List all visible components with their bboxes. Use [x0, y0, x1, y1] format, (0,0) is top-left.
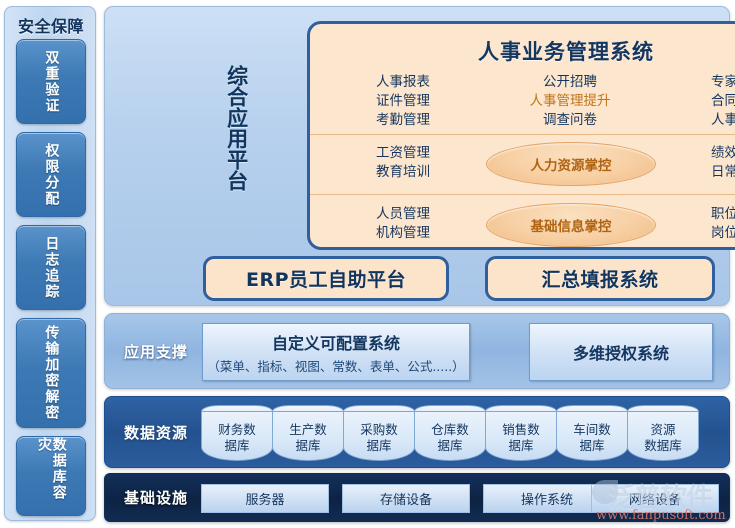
hr-ellipse-basic-info-control[interactable]: 基础信息掌控 — [486, 203, 656, 247]
hr-item[interactable]: 公开招聘 — [486, 73, 654, 92]
database-label-line1: 仓库数 — [431, 422, 469, 437]
application-support-label: 应用支撑 — [115, 314, 197, 388]
hr-item[interactable]: 岗位管理 — [662, 224, 735, 243]
database-label: 采购数 据库 — [360, 422, 398, 453]
infrastructure-band: 基础设施 服务器 存储设备 操作系统 网络设备 — [104, 473, 730, 522]
hr-item[interactable]: 考勤管理 — [328, 111, 478, 130]
hr-row2-right-column: 绩效考评 日常业务 — [662, 144, 735, 182]
security-item-label: 权限分配 — [44, 143, 59, 207]
database-label-line1: 采购数 — [360, 422, 398, 437]
hr-item[interactable]: 人员管理 — [328, 205, 478, 224]
database-label: 销售数 据库 — [502, 422, 540, 453]
database-cylinder-body-icon: 销售数 据库 — [485, 411, 557, 461]
database-workshop[interactable]: 车间数 据库 — [556, 405, 628, 461]
database-label-line2: 据库 — [437, 438, 462, 453]
hr-item[interactable]: 人事报表 — [328, 73, 478, 92]
hr-row3-left-column: 人员管理 机构管理 — [328, 205, 478, 243]
database-label: 车间数 据库 — [573, 422, 611, 453]
security-item-label: 传输加密解密 — [44, 325, 59, 421]
database-warehouse[interactable]: 仓库数 据库 — [414, 405, 486, 461]
application-platform-panel: 综合应用平台 人事业务管理系统 人事报表 证件管理 考勤管理 公开招聘 人事管理… — [104, 6, 730, 306]
hr-ellipse-label: 基础信息掌控 — [531, 215, 612, 235]
database-label-line2: 据库 — [366, 438, 391, 453]
database-cylinder-body-icon: 资源 数据库 — [627, 411, 699, 461]
multidimensional-authorization-system-title: 多维授权系统 — [573, 340, 669, 364]
database-label-line2: 据库 — [224, 438, 249, 453]
security-panel: 安全保障 双重验证 权限分配 日志追踪 传输加密解密 数据库容灾 — [4, 6, 96, 521]
hr-item[interactable]: 教育培训 — [328, 163, 478, 182]
hr-item[interactable]: 调查问卷 — [486, 111, 654, 130]
security-item-dual-verification[interactable]: 双重验证 — [16, 39, 86, 124]
database-label-line1: 生产数 — [289, 422, 327, 437]
custom-configurable-system-subtitle: （菜单、指标、视图、常数、表单、公式.....） — [207, 356, 464, 375]
database-label: 生产数 据库 — [289, 422, 327, 453]
database-label-line1: 财务数 — [218, 422, 256, 437]
hr-item[interactable]: 人事文库 — [662, 111, 735, 130]
hr-row1-right-column: 专家人才 合同管理 人事文库 — [662, 73, 735, 130]
database-resource[interactable]: 资源 数据库 — [627, 405, 699, 461]
summary-reporting-system-button[interactable]: 汇总填报系统 — [485, 256, 715, 301]
hr-item[interactable]: 合同管理 — [662, 92, 735, 111]
database-cylinder-body-icon: 采购数 据库 — [343, 411, 415, 461]
hr-ellipse-label: 人力资源掌控 — [531, 154, 612, 174]
hr-row2-left-column: 工资管理 教育培训 — [328, 144, 478, 182]
security-item-label: 数据库容灾 — [36, 437, 65, 515]
security-item-label: 双重验证 — [44, 50, 59, 114]
hr-row-2: 工资管理 教育培训 人力资源掌控 绩效考评 日常业务 — [310, 134, 735, 192]
hr-item-highlighted[interactable]: 人事管理提升 — [486, 92, 654, 111]
database-cylinder-body-icon: 车间数 据库 — [556, 411, 628, 461]
database-label-line2: 数据库 — [644, 438, 682, 453]
database-sales[interactable]: 销售数 据库 — [485, 405, 557, 461]
database-cylinder-body-icon: 财务数 据库 — [201, 411, 273, 461]
hr-row-1: 人事报表 证件管理 考勤管理 公开招聘 人事管理提升 调查问卷 专家人才 合同管… — [310, 70, 735, 132]
database-label: 资源 数据库 — [644, 422, 682, 453]
database-label-line2: 据库 — [579, 438, 604, 453]
security-item-permission-allocation[interactable]: 权限分配 — [16, 132, 86, 217]
multidimensional-authorization-system-box[interactable]: 多维授权系统 — [529, 323, 713, 381]
database-label-line2: 据库 — [508, 438, 533, 453]
hr-row3-right-column: 职位管理 岗位管理 — [662, 205, 735, 243]
architecture-diagram: 安全保障 双重验证 权限分配 日志追踪 传输加密解密 数据库容灾 综合应用平台 … — [0, 0, 735, 528]
infrastructure-item-server[interactable]: 服务器 — [201, 484, 329, 513]
data-resources-band: 数据资源 财务数 据库 生产数 据库 采购 — [104, 396, 730, 468]
security-panel-title: 安全保障 — [5, 13, 97, 37]
database-production[interactable]: 生产数 据库 — [272, 405, 344, 461]
hr-row1-left-column: 人事报表 证件管理 考勤管理 — [328, 73, 478, 130]
security-item-transmission-encryption[interactable]: 传输加密解密 — [16, 318, 86, 428]
database-cylinder-body-icon: 仓库数 据库 — [414, 411, 486, 461]
infrastructure-item-network-device[interactable]: 网络设备 — [591, 484, 719, 513]
hr-row-3: 人员管理 机构管理 基础信息掌控 职位管理 岗位管理 — [310, 194, 735, 250]
database-cylinder-body-icon: 生产数 据库 — [272, 411, 344, 461]
hr-item[interactable]: 工资管理 — [328, 144, 478, 163]
security-item-label: 日志追踪 — [44, 236, 59, 300]
platform-label-text: 综合应用平台 — [226, 65, 245, 191]
hr-item[interactable]: 绩效考评 — [662, 144, 735, 163]
database-label-line2: 据库 — [295, 438, 320, 453]
custom-configurable-system-box[interactable]: 自定义可配置系统 （菜单、指标、视图、常数、表单、公式.....） — [202, 323, 470, 381]
database-label: 仓库数 据库 — [431, 422, 469, 453]
hr-item[interactable]: 日常业务 — [662, 163, 735, 182]
hr-row1-mid-column: 公开招聘 人事管理提升 调查问卷 — [486, 73, 654, 130]
hr-item[interactable]: 证件管理 — [328, 92, 478, 111]
erp-self-service-platform-button[interactable]: ERP员工自助平台 — [203, 256, 449, 301]
security-item-log-tracking[interactable]: 日志追踪 — [16, 225, 86, 310]
hr-system-card: 人事业务管理系统 人事报表 证件管理 考勤管理 公开招聘 人事管理提升 调查问卷… — [307, 21, 735, 250]
hr-item[interactable]: 职位管理 — [662, 205, 735, 224]
hr-ellipse-hr-control[interactable]: 人力资源掌控 — [486, 142, 656, 186]
database-label-line1: 资源 — [650, 422, 675, 437]
application-support-band: 应用支撑 自定义可配置系统 （菜单、指标、视图、常数、表单、公式.....） 多… — [104, 313, 730, 389]
database-label-line1: 销售数 — [502, 422, 540, 437]
database-purchasing[interactable]: 采购数 据库 — [343, 405, 415, 461]
database-label: 财务数 据库 — [218, 422, 256, 453]
hr-item[interactable]: 专家人才 — [662, 73, 735, 92]
platform-vertical-label: 综合应用平台 — [213, 65, 259, 255]
custom-configurable-system-title: 自定义可配置系统 — [272, 330, 400, 354]
database-finance[interactable]: 财务数 据库 — [201, 405, 273, 461]
data-resources-label: 数据资源 — [115, 397, 197, 467]
security-item-database-disaster-recovery[interactable]: 数据库容灾 — [16, 436, 86, 516]
hr-item[interactable]: 机构管理 — [328, 224, 478, 243]
infrastructure-label: 基础设施 — [115, 474, 197, 521]
infrastructure-item-storage-device[interactable]: 存储设备 — [342, 484, 470, 513]
database-label-line1: 车间数 — [573, 422, 611, 437]
hr-system-title: 人事业务管理系统 — [310, 36, 735, 66]
